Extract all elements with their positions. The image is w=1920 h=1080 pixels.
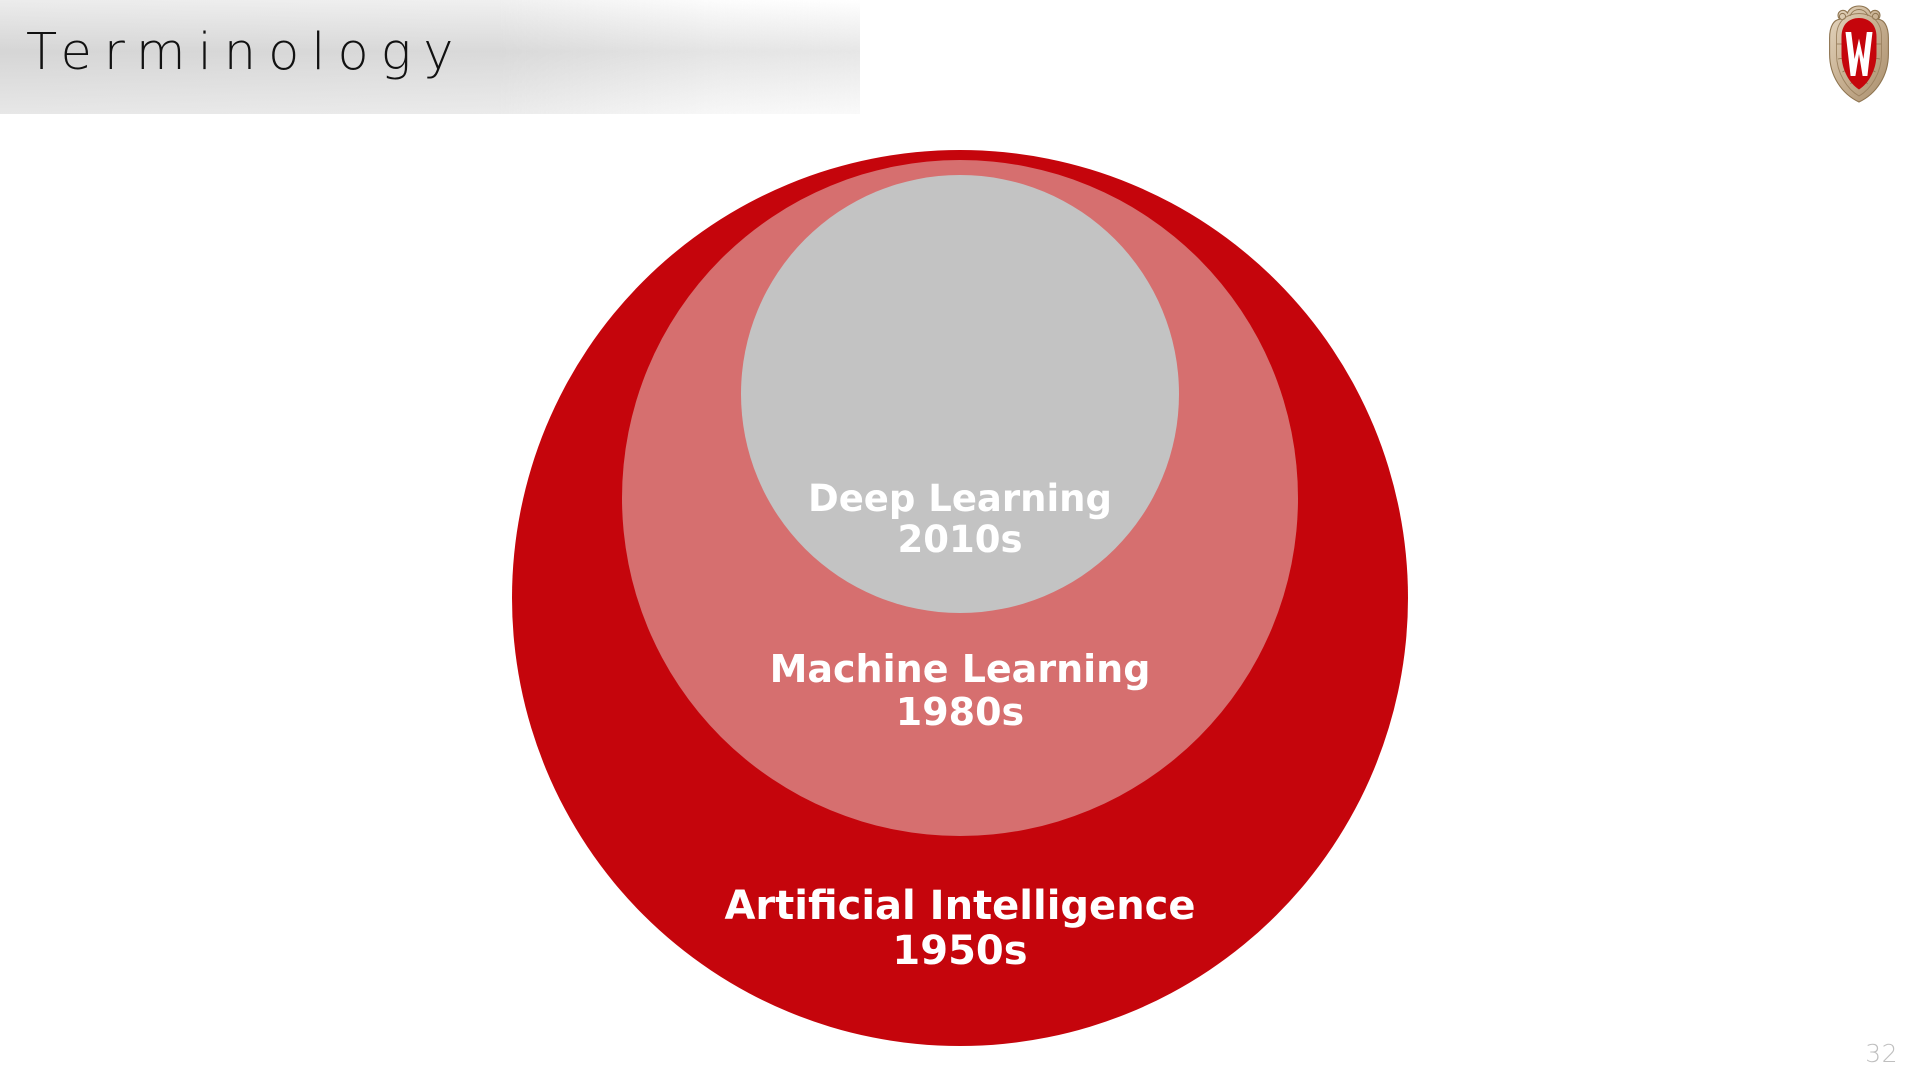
nested-circle-diagram: Deep Learning 2010s Machine Learning 198… (0, 0, 1920, 1080)
circle-deep-learning (741, 175, 1179, 613)
slide: Terminology (0, 0, 1920, 1080)
page-number: 32 (1865, 1039, 1898, 1068)
